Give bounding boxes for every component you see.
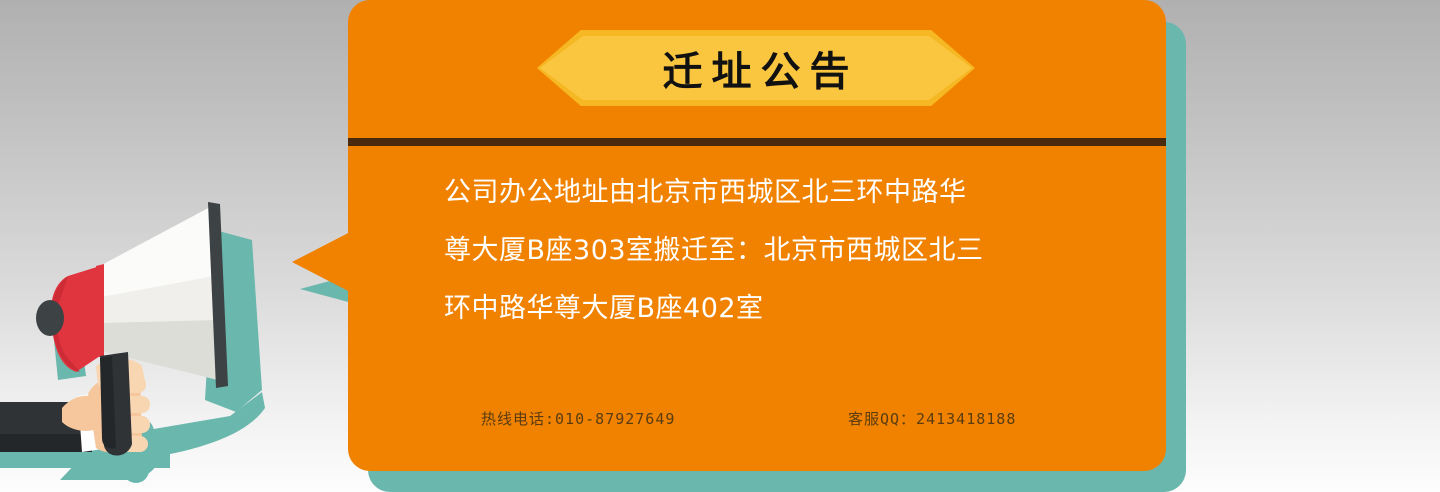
announcement-banner-canvas: 迁址公告 公司办公地址由北京市西城区北三环中路华 尊大厦B座303室搬迁至：北京… — [0, 0, 1440, 492]
banner-title-text: 迁址公告 — [537, 30, 975, 106]
notice-line-2: 尊大厦B座303室搬迁至：北京市西城区北三 — [444, 222, 1104, 280]
qq-text: 客服QQ：2413418188 — [848, 408, 1016, 429]
contact-footer: 热线电话:010-87927649 客服QQ：2413418188 — [444, 408, 1104, 434]
notice-line-1: 公司办公地址由北京市西城区北三环中路华 — [444, 164, 1104, 222]
hotline-text: 热线电话:010-87927649 — [481, 408, 675, 429]
header-divider — [348, 138, 1166, 146]
megaphone-cone — [96, 206, 218, 380]
megaphone-back — [36, 264, 104, 372]
notice-line-3: 环中路华尊大厦B座402室 — [444, 280, 1104, 338]
title-banner: 迁址公告 — [537, 30, 975, 106]
megaphone-icon — [0, 180, 310, 492]
notice-body: 公司办公地址由北京市西城区北三环中路华 尊大厦B座303室搬迁至：北京市西城区北… — [444, 164, 1104, 338]
